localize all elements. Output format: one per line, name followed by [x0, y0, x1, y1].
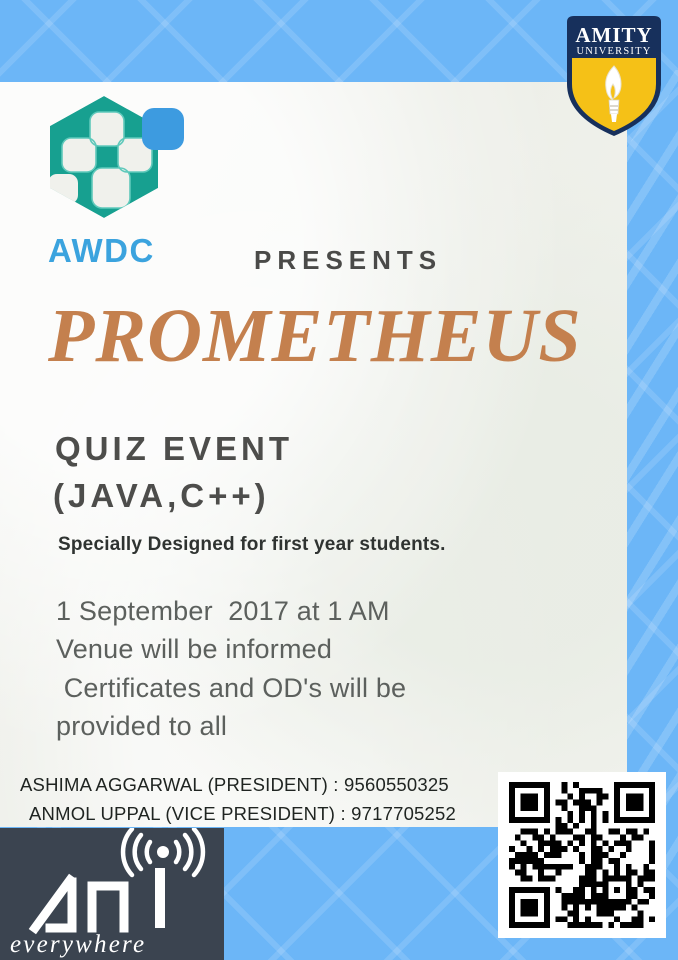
ani-broadcast-antenna-logo-icon: everywhere — [0, 828, 224, 960]
poster-paper-panel: AWDC PRESENTS PROMETHEUS QUIZ EVENT (JAV… — [0, 82, 627, 827]
svg-text:UNIVERSITY: UNIVERSITY — [577, 46, 652, 57]
awdc-wordmark: AWDC — [48, 232, 155, 270]
amity-university-shield-torch-icon: AMITY UNIVERSITY — [561, 12, 667, 140]
event-detail-line: Certificates and OD's will be — [56, 669, 526, 707]
event-detail-line: Venue will be informed — [56, 630, 526, 668]
event-details-block: 1 September 2017 at 1 AMVenue will be in… — [56, 592, 526, 745]
audience-note: Specially Designed for first year studen… — [58, 534, 446, 556]
awdc-hex-circuit-logo-icon — [38, 90, 188, 230]
event-detail-line: provided to all — [56, 707, 526, 745]
page-title: PROMETHEUS — [48, 300, 588, 372]
contact-line-vice-president: ANMOL UPPAL (VICE PRESIDENT) : 971770525… — [29, 800, 510, 829]
event-poster: AWDC PRESENTS PROMETHEUS QUIZ EVENT (JAV… — [0, 0, 678, 960]
svg-text:AMITY: AMITY — [575, 23, 652, 47]
event-languages-label: (JAVA,C++) — [53, 477, 270, 515]
contact-list: ASHIMA AGGARWAL (PRESIDENT) : 9560550325… — [20, 771, 510, 828]
qr-code-icon[interactable] — [498, 772, 666, 938]
event-detail-line: 1 September 2017 at 1 AM — [56, 592, 526, 630]
event-type-label: QUIZ EVENT — [55, 430, 293, 468]
contact-line-president: ASHIMA AGGARWAL (PRESIDENT) : 9560550325 — [20, 774, 449, 795]
presents-label: PRESENTS — [254, 245, 442, 276]
svg-text:everywhere: everywhere — [10, 931, 146, 958]
